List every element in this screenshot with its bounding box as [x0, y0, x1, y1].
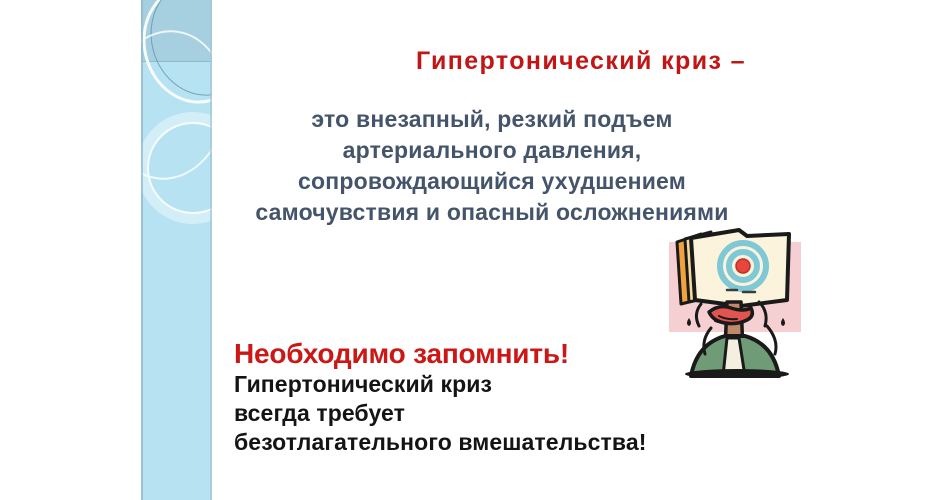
decorative-side-band — [141, 0, 212, 500]
definition-line-2: артериального давления, — [190, 135, 794, 166]
person-holding-target-sign-clipart — [655, 226, 835, 378]
target-center-dot — [736, 259, 750, 273]
definition-line-3: сопровождающийся ухудшением — [190, 166, 794, 197]
definition-line-4: самочувствия и опасный осложнениями — [190, 197, 794, 228]
definition-line-1: это внезапный, резкий подъем — [190, 104, 794, 135]
remember-line-3: безотлагательного вмешательства! — [234, 428, 754, 457]
side-band-edge-left — [141, 0, 143, 500]
remember-body: Гипертонический криз всегда требует безо… — [234, 370, 754, 457]
slide-canvas: Гипертонический криз – это внезапный, ре… — [0, 0, 950, 500]
remember-line-2: всегда требует — [234, 399, 754, 428]
definition-paragraph: это внезапный, резкий подъем артериально… — [190, 104, 794, 228]
slide-title: Гипертонический криз – — [212, 47, 950, 76]
